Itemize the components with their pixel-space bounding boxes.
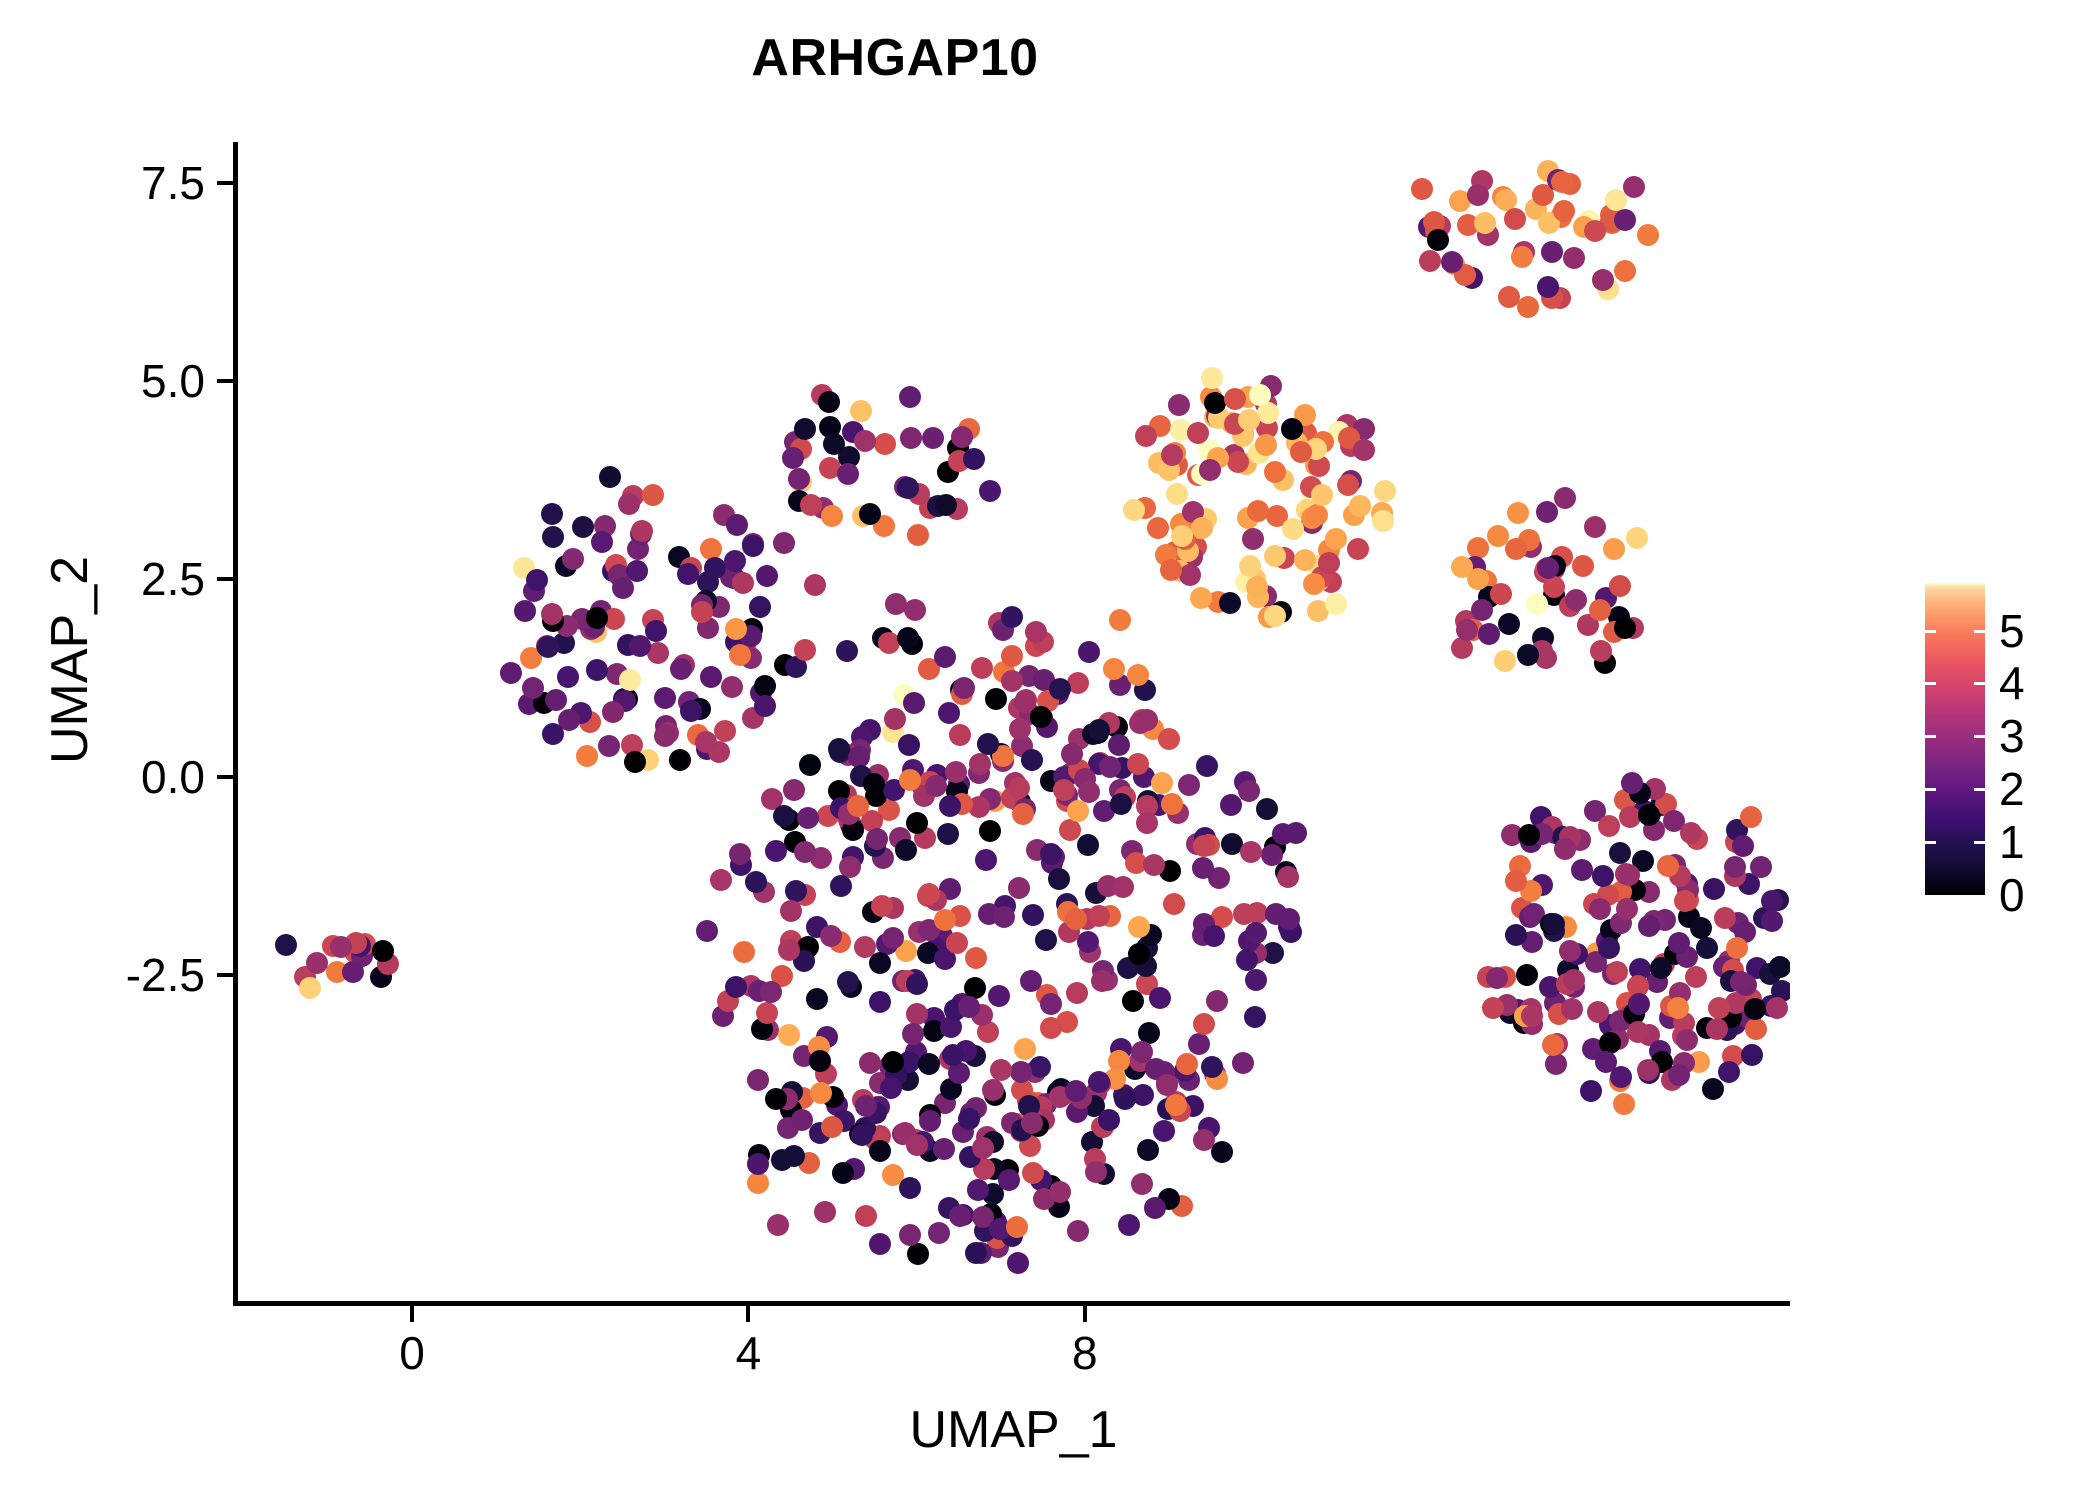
x-tick-label: 8 bbox=[1025, 1330, 1145, 1376]
scatter-point bbox=[1008, 777, 1030, 799]
scatter-point bbox=[859, 503, 881, 525]
scatter-point bbox=[821, 505, 843, 527]
scatter-point bbox=[749, 596, 771, 618]
scatter-point bbox=[1244, 1006, 1266, 1028]
scatter-point bbox=[747, 1069, 769, 1091]
scatter-point bbox=[1521, 1005, 1543, 1027]
scatter-point bbox=[1311, 484, 1333, 506]
scatter-point bbox=[1098, 1109, 1120, 1131]
scatter-point bbox=[626, 560, 648, 582]
scatter-point bbox=[1708, 997, 1730, 1019]
scatter-point bbox=[1598, 937, 1620, 959]
scatter-point bbox=[1337, 474, 1359, 496]
scatter-point bbox=[1498, 613, 1520, 635]
scatter-point bbox=[806, 988, 828, 1010]
scatter-point bbox=[897, 627, 919, 649]
scatter-point bbox=[1650, 957, 1672, 979]
scatter-point bbox=[925, 775, 947, 797]
scatter-point bbox=[1614, 209, 1636, 231]
scatter-point bbox=[1680, 822, 1702, 844]
scatter-point bbox=[782, 447, 804, 469]
scatter-point bbox=[541, 603, 563, 625]
scatter-point bbox=[1109, 609, 1131, 631]
scatter-point bbox=[1161, 793, 1183, 815]
scatter-point bbox=[1281, 418, 1303, 440]
scatter-point bbox=[907, 1243, 929, 1265]
colorbar-tick-mark bbox=[1925, 841, 1985, 844]
scatter-point bbox=[1685, 966, 1707, 988]
scatter-point bbox=[1553, 200, 1575, 222]
scatter-point bbox=[1761, 910, 1783, 932]
scatter-point bbox=[1285, 822, 1307, 844]
scatter-point bbox=[1614, 260, 1636, 282]
y-tick-mark bbox=[217, 379, 233, 383]
scatter-point bbox=[1277, 866, 1299, 888]
scatter-point bbox=[1085, 1161, 1107, 1183]
scatter-point bbox=[1427, 229, 1449, 251]
scatter-point bbox=[1220, 794, 1242, 816]
scatter-point bbox=[1467, 568, 1489, 590]
scatter-point bbox=[1732, 835, 1754, 857]
colorbar-tick-label: 5 bbox=[1999, 608, 2089, 654]
scatter-point bbox=[928, 1222, 950, 1244]
scatter-point bbox=[1190, 587, 1212, 609]
scatter-point bbox=[771, 1149, 793, 1171]
scatter-point bbox=[993, 906, 1015, 928]
scatter-point bbox=[899, 1177, 921, 1199]
scatter-point bbox=[1537, 276, 1559, 298]
scatter-point bbox=[814, 1201, 836, 1223]
scatter-point bbox=[1614, 617, 1636, 639]
scatter-point bbox=[1471, 599, 1493, 621]
scatter-point bbox=[788, 468, 810, 490]
scatter-point bbox=[1123, 499, 1145, 521]
scatter-point bbox=[1247, 500, 1269, 522]
scatter-point bbox=[1191, 517, 1213, 539]
scatter-point bbox=[869, 1140, 891, 1162]
scatter-point bbox=[1595, 1051, 1617, 1073]
scatter-point bbox=[1128, 916, 1150, 938]
scatter-point bbox=[631, 520, 653, 542]
scatter-point bbox=[1467, 184, 1489, 206]
scatter-point bbox=[1067, 1220, 1089, 1242]
scatter-point bbox=[906, 812, 928, 834]
scatter-point bbox=[797, 807, 819, 829]
scatter-point bbox=[1176, 1053, 1198, 1075]
scatter-point bbox=[1490, 583, 1512, 605]
scatter-point bbox=[904, 599, 926, 621]
scatter-point bbox=[1264, 461, 1286, 483]
scatter-point bbox=[1606, 961, 1628, 983]
scatter-point bbox=[1563, 247, 1585, 269]
scatter-point bbox=[1505, 924, 1527, 946]
scatter-point bbox=[971, 657, 993, 679]
scatter-point bbox=[1750, 856, 1772, 878]
scatter-point bbox=[1551, 171, 1573, 193]
scatter-point bbox=[754, 675, 776, 697]
scatter-point bbox=[1554, 487, 1576, 509]
scatter-point bbox=[1603, 538, 1625, 560]
scatter-point bbox=[1584, 516, 1606, 538]
scatter-point bbox=[1638, 804, 1660, 826]
x-axis-line bbox=[233, 1301, 1790, 1306]
scatter-point bbox=[1201, 367, 1223, 389]
scatter-point bbox=[1010, 1061, 1032, 1083]
scatter-point bbox=[669, 749, 691, 771]
scatter-point bbox=[1151, 772, 1173, 794]
scatter-point bbox=[1441, 251, 1463, 273]
y-tick-label: -2.5 bbox=[85, 952, 205, 998]
scatter-point bbox=[900, 427, 922, 449]
colorbar-legend: 012345 bbox=[1925, 583, 2085, 903]
scatter-point bbox=[700, 666, 722, 688]
scatter-point bbox=[1637, 224, 1659, 246]
scatter-point bbox=[1206, 990, 1228, 1012]
scatter-point bbox=[1478, 623, 1500, 645]
scatter-point bbox=[1136, 812, 1158, 834]
scatter-point bbox=[998, 1169, 1020, 1191]
scatter-point bbox=[677, 563, 699, 585]
scatter-point bbox=[1419, 250, 1441, 272]
scatter-point bbox=[1149, 987, 1171, 1009]
scatter-point bbox=[1554, 838, 1576, 860]
scatter-point bbox=[1411, 178, 1433, 200]
scatter-point bbox=[572, 516, 594, 538]
scatter-point bbox=[1589, 898, 1611, 920]
scatter-point bbox=[975, 849, 997, 871]
scatter-point bbox=[642, 484, 664, 506]
scatter-point bbox=[1136, 709, 1158, 731]
scatter-point bbox=[1147, 517, 1169, 539]
scatter-point bbox=[700, 538, 722, 560]
scatter-point bbox=[1278, 908, 1300, 930]
scatter-point bbox=[733, 941, 755, 963]
colorbar-tick-mark bbox=[1925, 682, 1985, 685]
scatter-point bbox=[1571, 859, 1593, 881]
scatter-point bbox=[1637, 1059, 1659, 1081]
scatter-point bbox=[767, 1214, 789, 1236]
scatter-point bbox=[1128, 943, 1150, 965]
scatter-point bbox=[780, 900, 802, 922]
scatter-point bbox=[721, 676, 743, 698]
scatter-point bbox=[586, 607, 608, 629]
scatter-point bbox=[1163, 893, 1185, 915]
scatter-point bbox=[1565, 589, 1587, 611]
scatter-point bbox=[1264, 545, 1286, 567]
scatter-point bbox=[1638, 915, 1660, 937]
scatter-point bbox=[958, 1108, 980, 1130]
y-tick-mark bbox=[217, 577, 233, 581]
scatter-point bbox=[1580, 1080, 1602, 1102]
scatter-point bbox=[1518, 824, 1540, 846]
scatter-point bbox=[654, 725, 676, 747]
scatter-point bbox=[756, 565, 778, 587]
scatter-point bbox=[919, 1110, 941, 1132]
scatter-point bbox=[725, 618, 747, 640]
scatter-point bbox=[760, 981, 782, 1003]
scatter-point bbox=[1114, 1088, 1136, 1110]
scatter-point bbox=[1256, 798, 1278, 820]
scatter-point bbox=[899, 386, 921, 408]
scatter-point bbox=[1144, 1197, 1166, 1219]
scatter-point bbox=[1188, 1033, 1210, 1055]
scatter-point bbox=[866, 828, 888, 850]
scatter-point bbox=[1103, 658, 1125, 680]
scatter-point bbox=[882, 927, 904, 949]
scatter-point bbox=[949, 724, 971, 746]
scatter-point bbox=[821, 1116, 843, 1138]
scatter-point bbox=[1627, 1021, 1649, 1043]
scatter-point bbox=[1282, 518, 1304, 540]
scatter-point bbox=[804, 574, 826, 596]
scatter-point bbox=[874, 433, 896, 455]
scatter-point bbox=[906, 973, 928, 995]
scatter-point bbox=[654, 687, 676, 709]
scatter-point bbox=[951, 426, 973, 448]
scatter-point bbox=[742, 535, 764, 557]
scatter-point bbox=[1349, 495, 1371, 517]
scatter-point bbox=[794, 639, 816, 661]
scatter-point bbox=[1353, 439, 1375, 461]
scatter-point bbox=[918, 1053, 940, 1075]
scatter-point bbox=[823, 433, 845, 455]
scatter-point bbox=[714, 720, 736, 742]
scatter-point bbox=[1179, 564, 1201, 586]
scatter-point bbox=[1261, 844, 1283, 866]
scatter-point bbox=[1542, 1034, 1564, 1056]
scatter-point bbox=[1131, 1041, 1153, 1063]
scatter-point bbox=[1303, 573, 1325, 595]
scatter-point bbox=[1061, 743, 1083, 765]
scatter-point bbox=[1091, 970, 1113, 992]
plot-panel bbox=[237, 142, 1790, 1303]
scatter-point bbox=[1714, 907, 1736, 929]
scatter-point bbox=[1077, 931, 1099, 953]
scatter-point bbox=[884, 708, 906, 730]
scatter-point bbox=[1029, 1056, 1051, 1078]
scatter-point bbox=[836, 640, 858, 662]
scatter-point bbox=[1022, 904, 1044, 926]
scatter-point bbox=[1584, 220, 1606, 242]
scatter-point bbox=[1178, 774, 1200, 796]
scatter-point bbox=[850, 400, 872, 422]
scatter-point bbox=[576, 745, 598, 767]
scatter-point bbox=[1306, 504, 1328, 526]
scatter-point bbox=[1769, 956, 1790, 978]
scatter-point bbox=[899, 1224, 921, 1246]
scatter-point bbox=[791, 1109, 813, 1131]
scatter-point bbox=[1161, 444, 1183, 466]
scatter-point bbox=[907, 524, 929, 546]
scatter-point bbox=[1741, 1044, 1763, 1066]
scatter-point bbox=[729, 843, 751, 865]
y-tick-mark bbox=[217, 973, 233, 977]
scatter-point bbox=[1201, 1056, 1223, 1078]
scatter-point bbox=[1193, 1013, 1215, 1035]
scatter-point bbox=[934, 646, 956, 668]
y-tick-label: 5.0 bbox=[85, 358, 205, 404]
scatter-point bbox=[542, 526, 564, 548]
scatter-point bbox=[619, 669, 641, 691]
scatter-point bbox=[1078, 641, 1100, 663]
scatter-point bbox=[765, 1088, 787, 1110]
scatter-point bbox=[939, 795, 961, 817]
scatter-point bbox=[785, 880, 807, 902]
scatter-point bbox=[1192, 857, 1214, 879]
scatter-point bbox=[869, 991, 891, 1013]
scatter-point bbox=[558, 709, 580, 731]
scatter-point bbox=[522, 677, 544, 699]
scatter-point bbox=[591, 531, 613, 553]
scatter-point bbox=[1609, 575, 1631, 597]
scatter-point bbox=[1561, 998, 1583, 1020]
scatter-point bbox=[747, 1172, 769, 1194]
scatter-point bbox=[988, 985, 1010, 1007]
x-tick-label: 4 bbox=[688, 1330, 808, 1376]
scatter-point bbox=[602, 701, 624, 723]
scatter-point bbox=[990, 1059, 1012, 1081]
scatter-point bbox=[1131, 1173, 1153, 1195]
scatter-point bbox=[1255, 434, 1277, 456]
scatter-point bbox=[820, 925, 842, 947]
scatter-point bbox=[1718, 1061, 1740, 1083]
scatter-point bbox=[899, 769, 921, 791]
scatter-point bbox=[1165, 1094, 1187, 1116]
scatter-point bbox=[765, 840, 787, 862]
scatter-point bbox=[696, 920, 718, 942]
y-tick-mark bbox=[217, 775, 233, 779]
scatter-point bbox=[1745, 1018, 1767, 1040]
scatter-point bbox=[979, 820, 1001, 842]
scatter-point bbox=[832, 1162, 854, 1184]
scatter-point bbox=[1108, 734, 1130, 756]
scatter-point bbox=[1374, 480, 1396, 502]
scatter-point bbox=[1605, 189, 1627, 211]
scatter-point bbox=[299, 977, 321, 999]
scatter-point bbox=[938, 702, 960, 724]
scatter-point bbox=[1517, 296, 1539, 318]
scatter-point bbox=[1012, 803, 1034, 825]
scatter-point bbox=[1166, 483, 1188, 505]
scatter-point bbox=[800, 494, 822, 516]
scatter-point bbox=[526, 569, 548, 591]
scatter-point bbox=[794, 418, 816, 440]
colorbar-tick-label: 1 bbox=[1999, 819, 2089, 865]
colorbar-tick-label: 2 bbox=[1999, 766, 2089, 812]
scatter-point bbox=[725, 976, 747, 998]
y-axis-line bbox=[233, 142, 238, 1306]
scatter-point bbox=[935, 494, 957, 516]
scatter-point bbox=[756, 1002, 778, 1024]
scatter-point bbox=[1486, 967, 1508, 989]
scatter-point bbox=[645, 620, 667, 642]
scatter-point bbox=[1158, 728, 1180, 750]
scatter-point bbox=[754, 695, 776, 717]
scatter-point bbox=[1168, 394, 1190, 416]
scatter-point bbox=[1740, 806, 1762, 828]
scatter-point bbox=[1536, 501, 1558, 523]
scatter-point bbox=[1001, 670, 1023, 692]
scatter-point bbox=[854, 430, 876, 452]
scatter-point bbox=[1724, 856, 1746, 878]
scatter-point bbox=[869, 952, 891, 974]
scatter-point bbox=[1049, 678, 1071, 700]
scatter-point bbox=[1035, 929, 1057, 951]
colorbar-tick-mark bbox=[1925, 735, 1985, 738]
scatter-point bbox=[624, 751, 646, 773]
scatter-point bbox=[1001, 645, 1023, 667]
scatter-point bbox=[1372, 510, 1394, 532]
scatter-point bbox=[953, 677, 975, 699]
scatter-point bbox=[880, 1077, 902, 1099]
scatter-point bbox=[342, 961, 364, 983]
scatter-point bbox=[1238, 780, 1260, 802]
scatter-point bbox=[557, 666, 579, 688]
scatter-point bbox=[726, 514, 748, 536]
scatter-point bbox=[1626, 527, 1648, 549]
scatter-point bbox=[1590, 640, 1612, 662]
scatter-point bbox=[1516, 964, 1538, 986]
scatter-point bbox=[670, 658, 692, 680]
scatter-point bbox=[618, 493, 640, 515]
scatter-point bbox=[885, 593, 907, 615]
scatter-point bbox=[1726, 937, 1748, 959]
scatter-point bbox=[847, 795, 869, 817]
scatter-point bbox=[1122, 990, 1144, 1012]
scatter-point bbox=[1325, 593, 1347, 615]
scatter-point bbox=[1526, 593, 1548, 615]
y-tick-label: 2.5 bbox=[85, 556, 205, 602]
x-tick-mark bbox=[410, 1306, 414, 1322]
scatter-point bbox=[946, 932, 968, 954]
colorbar-tick-mark bbox=[1925, 788, 1985, 791]
scatter-point bbox=[1137, 1139, 1159, 1161]
scatter-point bbox=[732, 572, 754, 594]
scatter-point bbox=[1193, 835, 1215, 857]
scatter-point bbox=[1706, 1018, 1728, 1040]
scatter-point bbox=[1668, 1064, 1690, 1086]
scatter-point bbox=[1505, 538, 1527, 560]
scatter-point bbox=[837, 463, 859, 485]
scatter-point bbox=[1001, 606, 1023, 628]
scatter-point bbox=[1676, 1029, 1698, 1051]
scatter-point bbox=[537, 636, 559, 658]
scatter-point bbox=[1008, 877, 1030, 899]
scatter-point bbox=[514, 600, 536, 622]
scatter-point bbox=[1621, 772, 1643, 794]
scatter-point bbox=[898, 734, 920, 756]
scatter-point bbox=[1766, 997, 1788, 1019]
scatter-point bbox=[933, 1138, 955, 1160]
scatter-point bbox=[1618, 864, 1640, 886]
scatter-point bbox=[972, 1137, 994, 1159]
scatter-point bbox=[1014, 1038, 1036, 1060]
scatter-point bbox=[1078, 781, 1100, 803]
scatter-point bbox=[1245, 922, 1267, 944]
scatter-point bbox=[1543, 913, 1565, 935]
scatter-point bbox=[1245, 969, 1267, 991]
scatter-point bbox=[306, 952, 328, 974]
scatter-point bbox=[1066, 982, 1088, 1004]
scatter-point bbox=[1504, 208, 1526, 230]
colorbar-tick-label: 0 bbox=[1999, 872, 2089, 918]
colorbar-tick-mark bbox=[1925, 630, 1985, 633]
scatter-point bbox=[1153, 1120, 1175, 1142]
scatter-point bbox=[1040, 1017, 1062, 1039]
scatter-point bbox=[1196, 755, 1218, 777]
scatter-point bbox=[969, 753, 991, 775]
scatter-point bbox=[1211, 1141, 1233, 1163]
